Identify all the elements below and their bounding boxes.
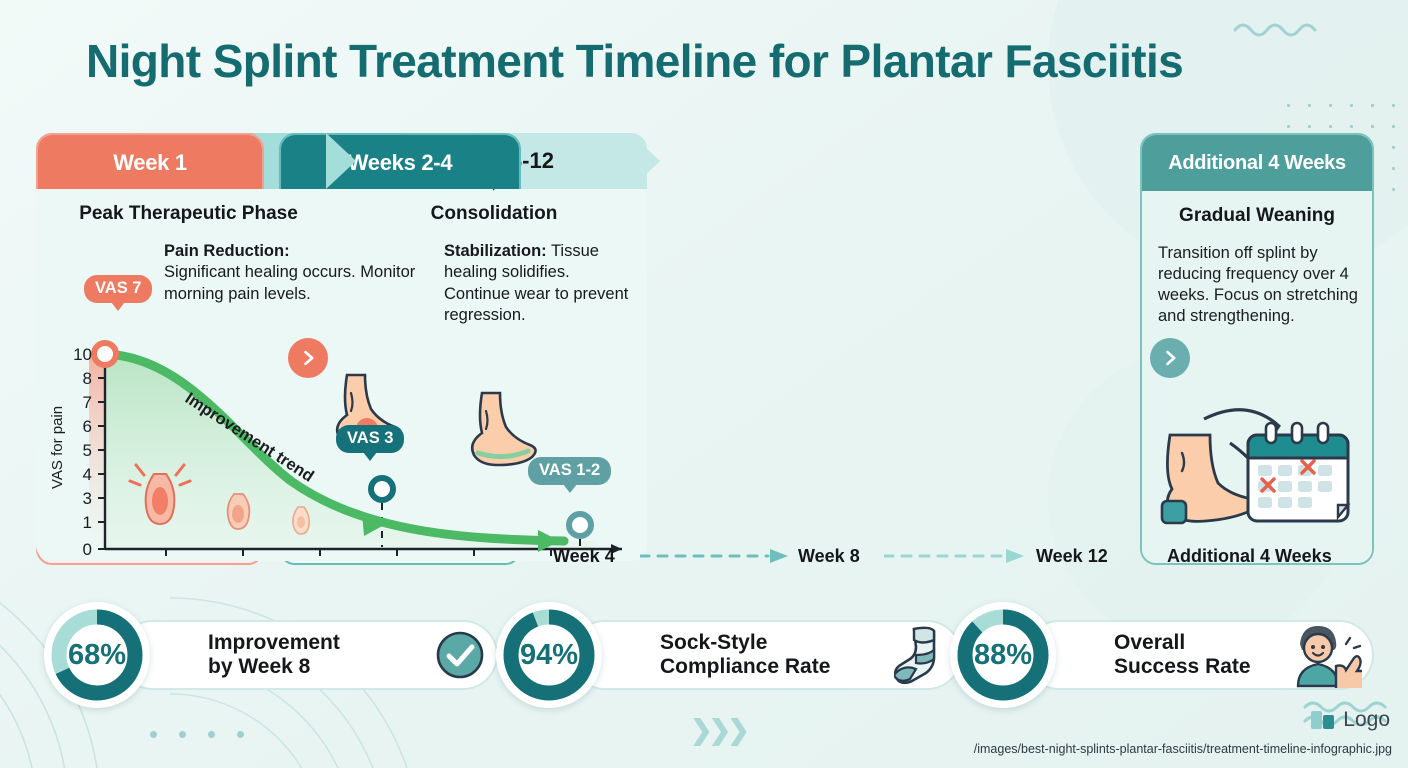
additional-weeks-footer-label: Additional 4 Weeks [1167,546,1332,567]
card-text-additional4weeks: Transition off splint by reducing freque… [1158,243,1358,327]
timeline-row: Week 1 Break-In Period [36,133,1374,561]
logo[interactable]: Logo [1310,708,1390,732]
vas-badge-week4: VAS 7 [84,275,152,303]
svg-text:0: 0 [83,540,92,559]
thumbs-up-person-icon [1288,622,1362,688]
dashed-arrow-week8-to-week12-icon [884,549,1026,563]
connector-arrow-2[interactable] [1150,338,1190,378]
wave-decoration-top-icon [1232,18,1324,40]
sock-icon [894,625,950,685]
stats-row: Improvement by Week 8 68% Sock [44,592,1374,722]
x-label-week4: Week 4 [553,546,615,567]
svg-text:5: 5 [83,441,92,460]
svg-text:10: 10 [73,345,92,364]
page-title: Night Splint Treatment Timeline for Plan… [86,34,1183,88]
svg-text:4: 4 [83,465,92,484]
card-header-additional4weeks: Additional 4 Weeks [1142,135,1372,191]
vas-badge-week8: VAS 3 [336,425,404,453]
stat-label-improvement: Improvement by Week 8 [208,631,340,680]
stat-pill-success: Overall Success Rate [1024,620,1374,690]
vas-badge-week8-label: VAS 3 [347,429,393,447]
infographic-canvas: ❯❯❯ Night Splint Treatment Timeline for … [0,0,1408,768]
stat-percent-improvement: 68% [68,639,126,672]
calendar-stretch-icon [1152,401,1360,529]
stat-label-success: Overall Success Rate [1114,631,1251,680]
stat-label-compliance: Sock-Style Compliance Rate [660,631,830,680]
stat-donut-improvement: 68% [44,602,150,708]
svg-text:6: 6 [83,417,92,436]
vas-badge-week8-tail-icon [363,452,377,461]
card-header-week1: Week 1 [38,135,262,191]
check-circle-icon [434,629,486,681]
dashed-arrow-week4-to-week8-icon [640,549,790,563]
header-chevron-notch-mid-icon [326,133,356,189]
logo-mark-icon [1310,708,1336,732]
vas-badge-week12: VAS 1-2 [528,457,611,485]
header-chevron-notch-right-icon [630,133,647,189]
stat-label-line2-success: Success Rate [1114,655,1251,678]
chevron-right-icon [298,348,318,368]
x-label-week12: Week 12 [1036,546,1108,567]
card-subtitle-additional4weeks: Gradual Weaning [1158,205,1356,227]
vas-badge-week12-label: VAS 1-2 [539,461,600,479]
stat-label-line1-compliance: Sock-Style [660,631,767,654]
chevron-right-icon [1160,348,1180,368]
stat-card-compliance[interactable]: Sock-Style Compliance Rate 94% [496,602,966,706]
fascia-healed-icon [293,507,309,534]
card-body-additional4weeks: Gradual Weaning Transition off splint by… [1142,191,1372,563]
svg-text:8: 8 [83,369,92,388]
stat-label-line1-improvement: Improvement [208,631,340,654]
card-header-weeks2to4: Weeks 2-4 [281,135,519,191]
stat-label-line1-success: Overall [1114,631,1185,654]
chart-region: Peak Therapeutic Phase Consolidation Pai… [36,189,647,561]
svg-text:1: 1 [83,513,92,532]
stat-label-line2-improvement: by Week 8 [208,655,310,678]
x-label-week8: Week 8 [798,546,860,567]
logo-text: Logo [1343,708,1390,732]
stat-pill-improvement: Improvement by Week 8 [118,620,498,690]
stat-donut-success: 88% [950,602,1056,708]
footer-image-path: /images/best-night-splints-plantar-fasci… [974,742,1392,756]
stat-card-improvement[interactable]: Improvement by Week 8 68% [44,602,514,706]
stat-percent-compliance: 94% [520,639,578,672]
timeline-panel-middle: Weeks 4-8 Weeks 8-12 Peak Therapeutic Ph… [36,133,647,561]
stat-percent-success: 88% [974,639,1032,672]
connector-arrow-1[interactable] [288,338,328,378]
dot-row-decoration [150,731,244,738]
svg-text:VAS for pain: VAS for pain [49,406,66,489]
vas-badge-week4-label: VAS 7 [95,279,141,297]
stat-donut-compliance: 94% [496,602,602,708]
header-chevron-notch-icon [493,135,521,191]
vas-badge-week4-tail-icon [111,302,125,311]
svg-text:7: 7 [83,393,92,412]
vas-badge-week12-tail-icon [563,484,577,493]
fascia-healing-icon [228,494,250,529]
svg-text:3: 3 [83,489,92,508]
stat-card-success[interactable]: Overall Success Rate [950,602,1374,706]
stat-pill-compliance: Sock-Style Compliance Rate [570,620,962,690]
stat-label-line2-compliance: Compliance Rate [660,655,830,678]
